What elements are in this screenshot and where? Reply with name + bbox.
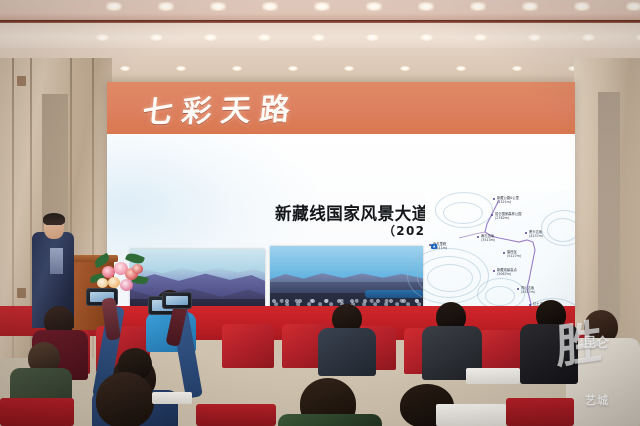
projection-screen: 七彩天路 新藏线国家风景大道旅游 (107, 82, 575, 314)
side-table-3 (152, 392, 192, 404)
ceiling-downlight (262, 2, 278, 11)
map-route-line (425, 190, 575, 314)
chair-front-3 (506, 398, 574, 426)
ceiling-downlight (204, 34, 217, 41)
ceiling-downlight (366, 2, 382, 11)
chair-back-3 (222, 324, 274, 368)
ceiling-downlight (312, 34, 325, 41)
ceiling-downlight (158, 2, 174, 11)
slide-header-banner: 七彩天路 (107, 82, 575, 134)
ceiling-downlight (96, 34, 109, 41)
route-map: 新藏公路0公里(1321m)昆仑国家森林公园(2762m)麻扎达坂(3515m)… (425, 190, 575, 314)
ceiling-downlight (400, 66, 410, 71)
ceiling-downlight (176, 66, 186, 71)
side-table-2 (436, 404, 506, 426)
ceiling-downlight (418, 2, 434, 11)
slide-body: 新藏线国家风景大道旅游发展规划 （2020—2030年） 新疆叶城县文化体育广播… (107, 134, 575, 314)
ceiling-downlight (420, 34, 433, 41)
presenter-shirt (50, 248, 63, 274)
map-place-label: 麻扎达坂(3515m) (481, 234, 495, 242)
map-place-elevation: (2762m) (495, 216, 509, 220)
ceiling-downlight (456, 66, 466, 71)
map-place-label: 新藏线最高点(5067m) (497, 268, 517, 276)
phone-camera-left (162, 292, 192, 309)
ceiling-downlight (474, 34, 487, 41)
map-place-elevation: (4237m) (529, 234, 543, 238)
ceiling-downlight (522, 2, 538, 11)
map-place-label: 新藏公路0公里(1321m) (497, 196, 519, 204)
ceiling-downlight (582, 34, 595, 41)
ceiling-downlight (344, 66, 354, 71)
ceiling-downlight (106, 2, 122, 11)
ceiling-downlight (366, 34, 379, 41)
ceiling-downlight (470, 2, 486, 11)
ceiling-downlight (258, 34, 271, 41)
ceiling-downlight (288, 66, 298, 71)
map-place-elevation: (5067m) (497, 272, 511, 276)
side-table-1 (466, 368, 520, 384)
chair-front-1 (0, 398, 74, 426)
ceiling-downlight (528, 34, 541, 41)
map-place-label: 黑卡达坂(4237m) (529, 230, 543, 238)
map-place-elevation: (5347m) (521, 290, 535, 294)
ceiling-downlight (626, 2, 640, 11)
ceiling-downlight (120, 66, 130, 71)
ceiling-downlight (574, 2, 590, 11)
ceiling-downlight (150, 34, 163, 41)
slide-calligraphy-title: 七彩天路 (141, 84, 302, 131)
chair-front-2 (196, 404, 276, 426)
map-place-label: 界山达坂(5347m) (521, 286, 535, 294)
map-place-label: 昆仑国家森林公园(2762m) (495, 212, 521, 220)
map-place-elevation: (3515m) (481, 238, 495, 242)
presenter-glasses (46, 224, 62, 229)
map-place-elevation: (5127m) (507, 254, 521, 258)
ceiling-downlight (314, 2, 330, 11)
map-peak-marker-k2: ▲ (431, 244, 437, 249)
ceiling-downlight (210, 2, 226, 11)
conference-hall-photo: 七彩天路 新藏线国家风景大道旅游 (0, 0, 640, 426)
ceiling-downlight (232, 66, 242, 71)
map-place-elevation: (1321m) (497, 200, 511, 204)
ceiling-downlight (512, 66, 522, 71)
map-place-label: 康西瓦(5127m) (507, 250, 521, 258)
